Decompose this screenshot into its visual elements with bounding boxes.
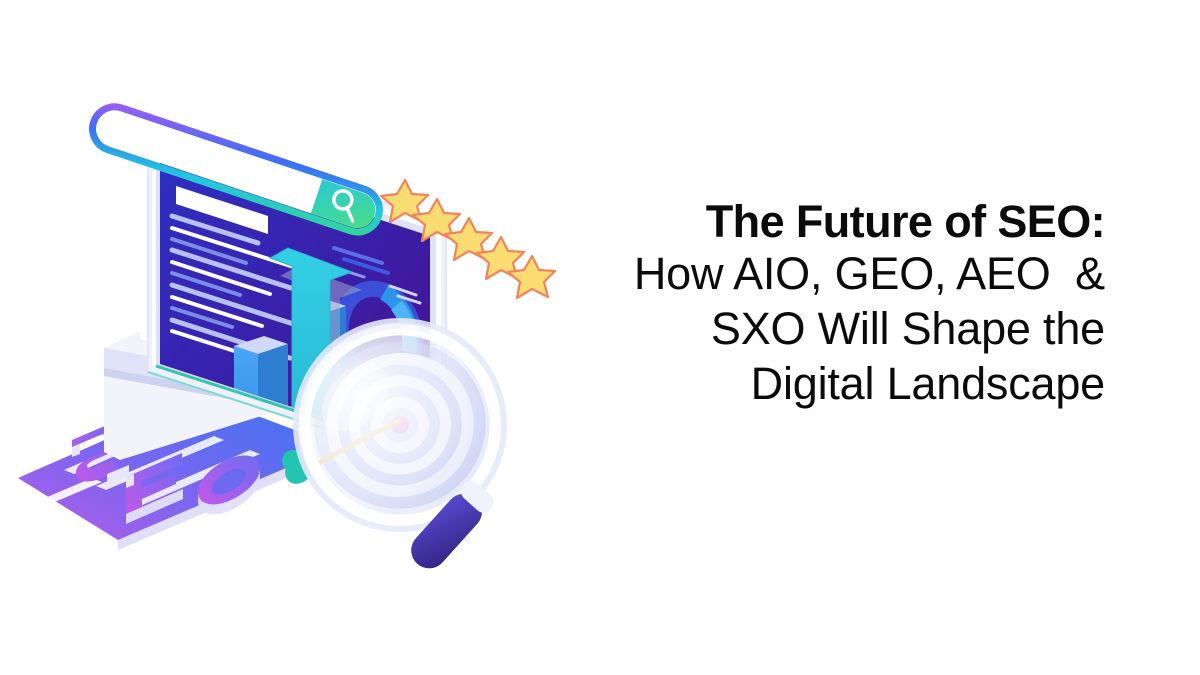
- poster-canvas: The Future of SEO: How AIO, GEO, AEO & S…: [0, 0, 1200, 675]
- page-title: The Future of SEO: How AIO, GEO, AEO & S…: [545, 196, 1105, 412]
- headline-line-2: How AIO, GEO, AEO &: [545, 247, 1105, 302]
- headline-line-1: The Future of SEO:: [545, 196, 1105, 247]
- headline-line-3: SXO Will Shape the: [545, 302, 1105, 357]
- seo-analytics-isometric-illustration: [0, 0, 600, 675]
- headline-line-4: Digital Landscape: [545, 357, 1105, 412]
